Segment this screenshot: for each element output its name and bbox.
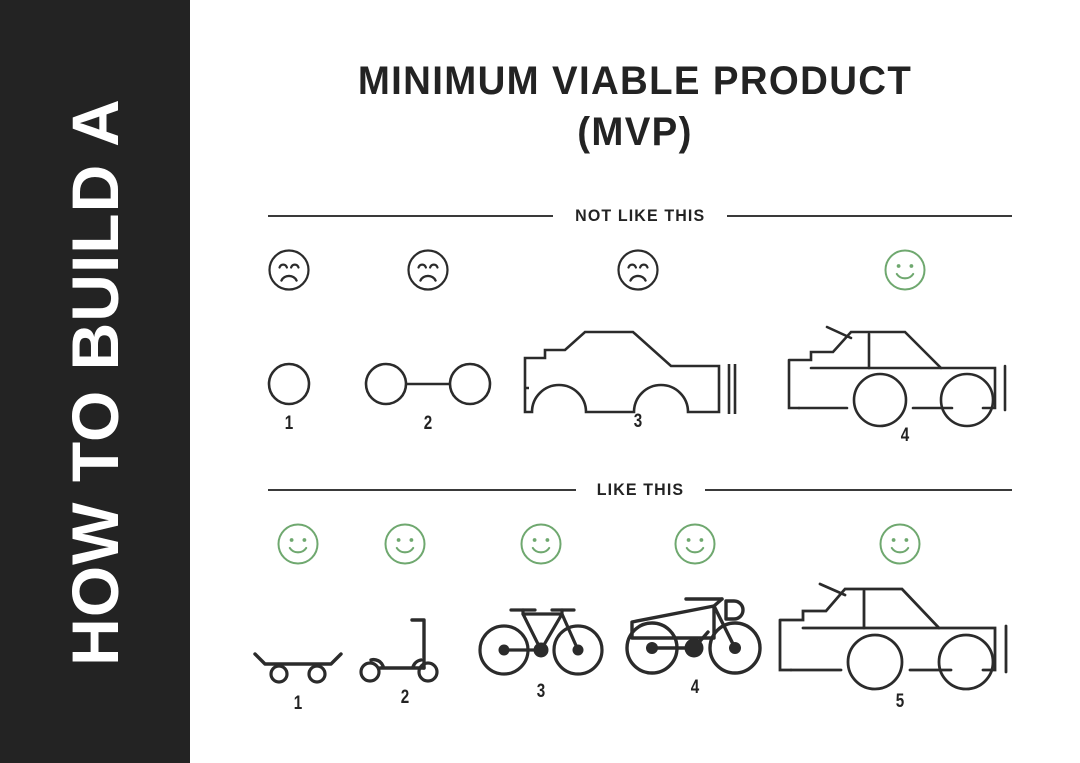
step-number: 4 bbox=[805, 426, 1005, 445]
divider-rule-right bbox=[727, 215, 1012, 217]
section-divider-like-this: LIKE THIS bbox=[268, 480, 1012, 500]
car-icon bbox=[787, 318, 1023, 430]
title-line-2: (MVP) bbox=[208, 107, 1062, 158]
step-not-like-this-4: 4 bbox=[780, 248, 1030, 445]
step-like-this-5: 5 bbox=[775, 522, 1025, 711]
happy-face-icon bbox=[673, 522, 717, 566]
divider-rule-right bbox=[705, 489, 1013, 491]
step-like-this-1: 1 bbox=[243, 522, 353, 713]
sad-face-icon bbox=[267, 248, 311, 292]
section-divider-not-like-this: NOT LIKE THIS bbox=[268, 206, 1012, 226]
main-content: MINIMUM VIABLE PRODUCT (MVP) NOT LIKE TH… bbox=[190, 0, 1080, 763]
step-number: 3 bbox=[491, 682, 592, 701]
step-number: 2 bbox=[361, 688, 449, 707]
divider-rule-left bbox=[268, 215, 553, 217]
happy-face-icon bbox=[883, 248, 927, 292]
title-line-1: MINIMUM VIABLE PRODUCT bbox=[208, 56, 1062, 107]
step-not-like-this-2: 2 bbox=[358, 248, 498, 433]
car-icon bbox=[778, 574, 1022, 694]
step-number: 3 bbox=[542, 412, 734, 431]
step-number: 4 bbox=[637, 678, 754, 697]
page-title: MINIMUM VIABLE PRODUCT (MVP) bbox=[190, 56, 1080, 158]
step-number: 5 bbox=[800, 692, 1000, 711]
sad-face-icon bbox=[616, 248, 660, 292]
sidebar-title: HOW TO BUILD A bbox=[62, 98, 128, 666]
step-like-this-4: 4 bbox=[622, 522, 768, 697]
steps-row-not-like-this: 1 2 bbox=[190, 248, 1080, 438]
section-label-like-this: LIKE THIS bbox=[596, 480, 683, 500]
happy-face-icon bbox=[519, 522, 563, 566]
bicycle-icon bbox=[478, 584, 604, 686]
infographic-page: HOW TO BUILD A MINIMUM VIABLE PRODUCT (M… bbox=[0, 0, 1080, 763]
step-number: 1 bbox=[245, 414, 333, 433]
sidebar-banner: HOW TO BUILD A bbox=[0, 0, 190, 763]
steps-row-like-this: 1 bbox=[190, 522, 1080, 722]
car-body-icon bbox=[523, 320, 753, 420]
step-like-this-3: 3 bbox=[478, 522, 604, 701]
happy-face-icon bbox=[878, 522, 922, 566]
divider-rule-left bbox=[268, 489, 576, 491]
step-number: 2 bbox=[372, 414, 484, 433]
sad-face-icon bbox=[406, 248, 450, 292]
happy-face-icon bbox=[383, 522, 427, 566]
step-like-this-2: 2 bbox=[350, 522, 460, 707]
motorcycle-icon bbox=[622, 576, 768, 684]
step-not-like-this-1: 1 bbox=[234, 248, 344, 433]
happy-face-icon bbox=[276, 522, 320, 566]
step-number: 1 bbox=[254, 694, 342, 713]
step-not-like-this-3: 3 bbox=[518, 248, 758, 431]
section-label-not-like-this: NOT LIKE THIS bbox=[575, 206, 705, 226]
